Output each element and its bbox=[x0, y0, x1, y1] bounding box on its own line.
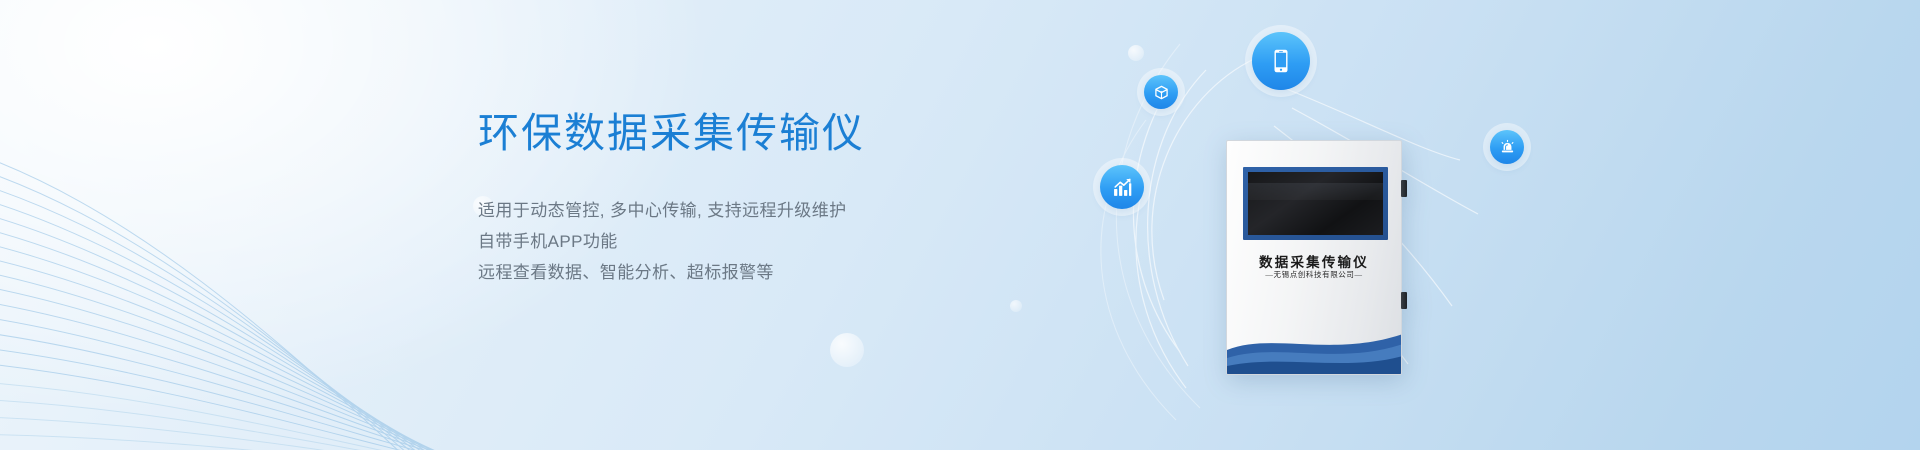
hero-banner: 环保数据采集传输仪 适用于动态管控, 多中心传输, 支持远程升级维护 自带手机A… bbox=[0, 0, 1920, 450]
banner-subtitle: 适用于动态管控, 多中心传输, 支持远程升级维护 自带手机APP功能 远程查看数… bbox=[478, 195, 1038, 288]
alarm-icon[interactable] bbox=[1490, 130, 1524, 164]
device-company-label: —无锡点创科技有限公司— bbox=[1227, 269, 1401, 280]
subtitle-line-2: 自带手机APP功能 bbox=[478, 226, 1038, 257]
device-body: 数据采集传输仪 —无锡点创科技有限公司— bbox=[1226, 140, 1402, 375]
device-side-hinge bbox=[1401, 292, 1407, 309]
subtitle-line-1: 适用于动态管控, 多中心传输, 支持远程升级维护 bbox=[478, 195, 1038, 226]
subtitle-line-3: 远程查看数据、智能分析、超标报警等 bbox=[478, 257, 1038, 288]
banner-copy: 环保数据采集传输仪 适用于动态管控, 多中心传输, 支持远程升级维护 自带手机A… bbox=[478, 110, 1038, 288]
bokeh-circle bbox=[830, 333, 864, 367]
device-wave-graphic bbox=[1227, 316, 1402, 374]
device-brand-label: 数据采集传输仪 bbox=[1227, 251, 1401, 271]
device-side-hinge bbox=[1401, 180, 1407, 197]
product-device: 数据采集传输仪 —无锡点创科技有限公司— bbox=[1226, 140, 1402, 375]
phone-icon[interactable] bbox=[1252, 32, 1310, 90]
chart-icon[interactable] bbox=[1100, 165, 1144, 209]
product-composition: 数据采集传输仪 —无锡点创科技有限公司— bbox=[1060, 0, 1560, 450]
cube-icon[interactable] bbox=[1144, 75, 1178, 109]
banner-title: 环保数据采集传输仪 bbox=[478, 110, 1038, 157]
bokeh-circle bbox=[1010, 300, 1022, 312]
device-screen-bezel bbox=[1243, 167, 1388, 240]
device-screen bbox=[1248, 172, 1383, 235]
